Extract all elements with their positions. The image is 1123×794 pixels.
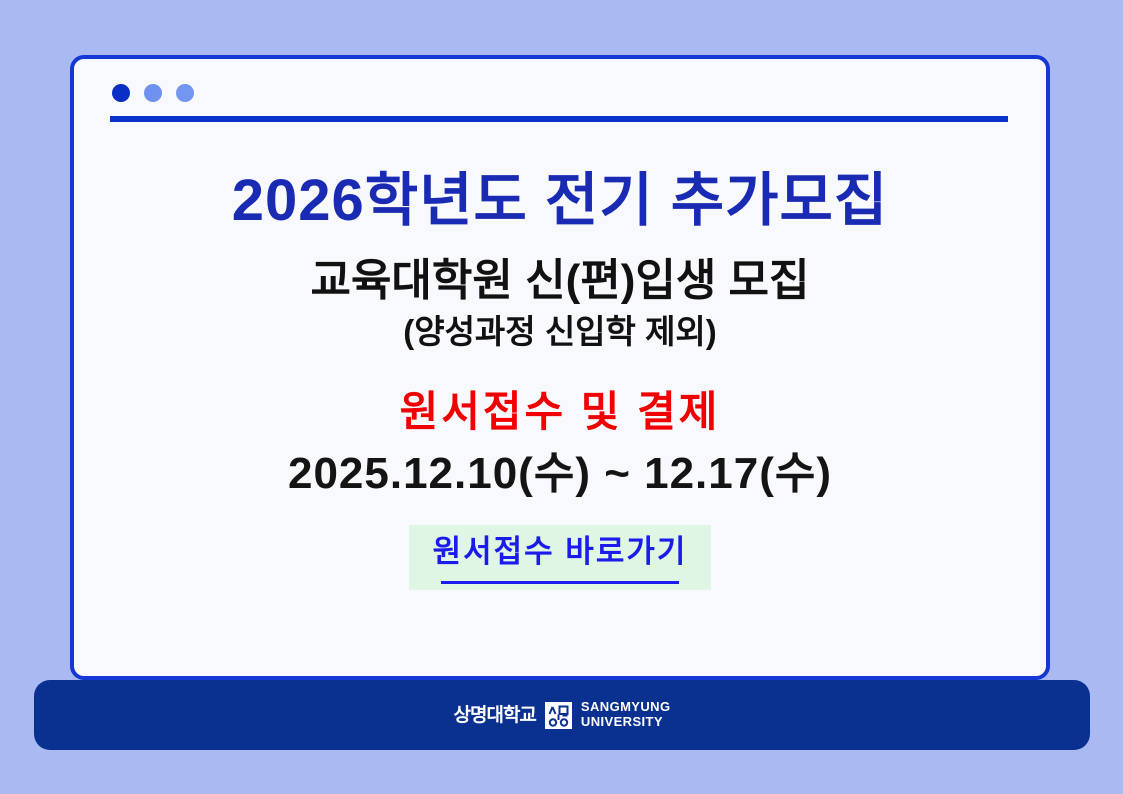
poster-content: 2026학년도 전기 추가모집 교육대학원 신(편)입생 모집 (양성과정 신입… [74,149,1046,590]
apply-now-link-label: 원서접수 바로가기 [433,533,688,570]
apply-link-container: 원서접수 바로가기 [74,525,1046,589]
application-period-dates: 2025.12.10(수) ~ 12.17(수) [74,437,1046,500]
close-dot-icon[interactable] [112,84,130,102]
apply-now-link-underline [441,581,680,584]
application-period-heading: 원서접수 및 결제 [74,350,1046,436]
subtitle: 교육대학원 신(편)입생 모집 [74,234,1046,307]
apply-now-link[interactable]: 원서접수 바로가기 [409,525,712,589]
footer-bar: 상명대학교 SANGMYUNG UNIVERSITY [34,680,1090,750]
university-logo: 상명대학교 SANGMYUNG UNIVERSITY [454,700,671,730]
subtitle-note: (양성과정 신입학 제외) [74,307,1046,351]
university-emblem-icon [545,702,572,729]
maximize-dot-icon[interactable] [176,84,194,102]
university-logo-english-line2: UNIVERSITY [581,715,671,730]
minimize-dot-icon[interactable] [144,84,162,102]
university-logo-english-line1: SANGMYUNG [581,700,671,715]
university-logo-english: SANGMYUNG UNIVERSITY [581,700,671,730]
address-bar-rule [110,116,1008,122]
page-title: 2026학년도 전기 추가모집 [74,149,1046,234]
browser-window-card: 2026학년도 전기 추가모집 교육대학원 신(편)입생 모집 (양성과정 신입… [70,55,1050,680]
window-controls [112,84,194,102]
university-logo-korean: 상명대학교 [454,706,536,725]
